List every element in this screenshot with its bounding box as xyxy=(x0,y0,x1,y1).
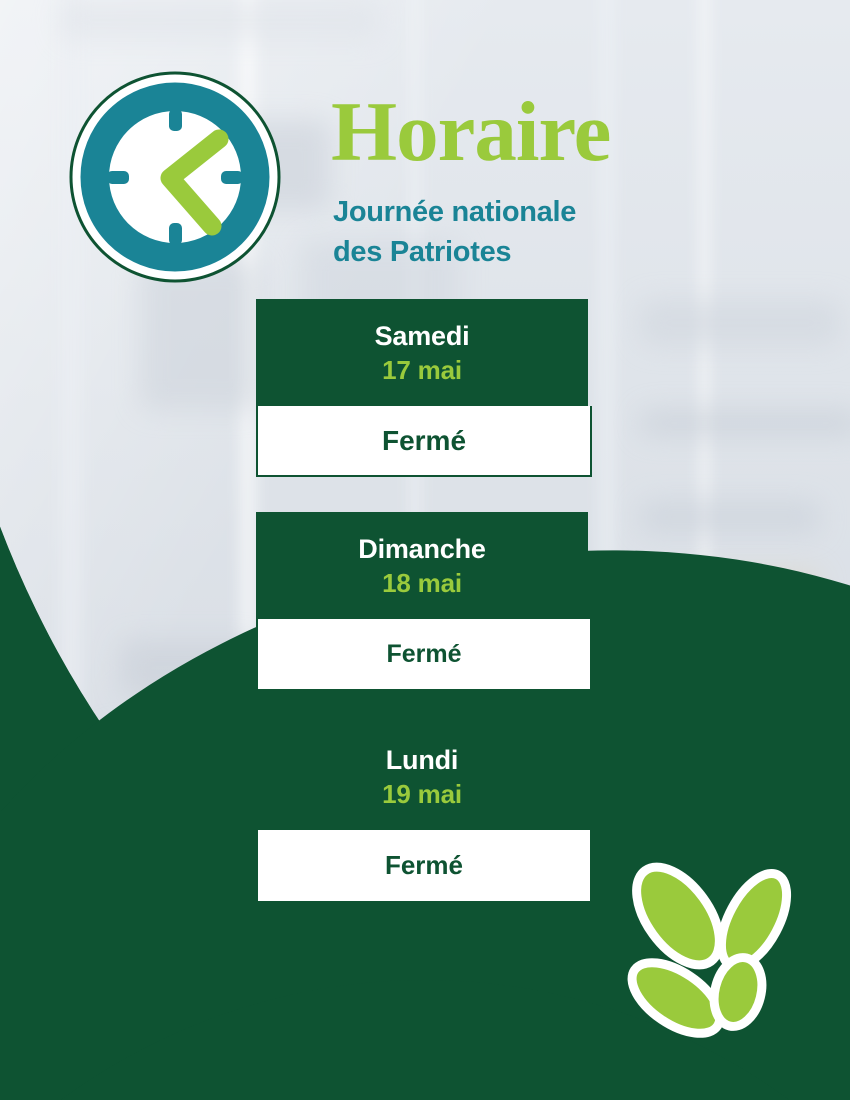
schedule-date: 18 mai xyxy=(256,566,588,600)
schedule-day: Samedi xyxy=(256,320,588,353)
schedule-day: Dimanche xyxy=(256,533,588,566)
page-title: Horaire xyxy=(331,90,610,175)
schedule-card: Dimanche 18 mai Fermé xyxy=(256,512,592,691)
schedule-card: Samedi 17 mai Fermé xyxy=(256,299,592,477)
butterfly-logo-icon xyxy=(616,858,812,1054)
subtitle-line-2: des Patriotes xyxy=(333,232,576,272)
schedule-day: Lundi xyxy=(256,744,588,777)
subtitle-line-1: Journée nationale xyxy=(333,192,576,232)
schedule-card-header: Lundi 19 mai xyxy=(256,723,588,830)
schedule-date: 19 mai xyxy=(256,777,588,811)
schedule-card: Lundi 19 mai Fermé xyxy=(256,723,592,903)
schedule-card-header: Samedi 17 mai xyxy=(256,299,588,406)
schedule-status: Fermé xyxy=(256,406,592,477)
clock-icon xyxy=(69,71,281,283)
page-subtitle: Journée nationale des Patriotes xyxy=(333,192,576,272)
schedule-status: Fermé xyxy=(256,619,592,691)
schedule-date: 17 mai xyxy=(256,353,588,387)
schedule-card-header: Dimanche 18 mai xyxy=(256,512,588,619)
horaire-poster: Horaire Journée nationale des Patriotes … xyxy=(0,0,850,1100)
schedule-status: Fermé xyxy=(256,830,592,903)
